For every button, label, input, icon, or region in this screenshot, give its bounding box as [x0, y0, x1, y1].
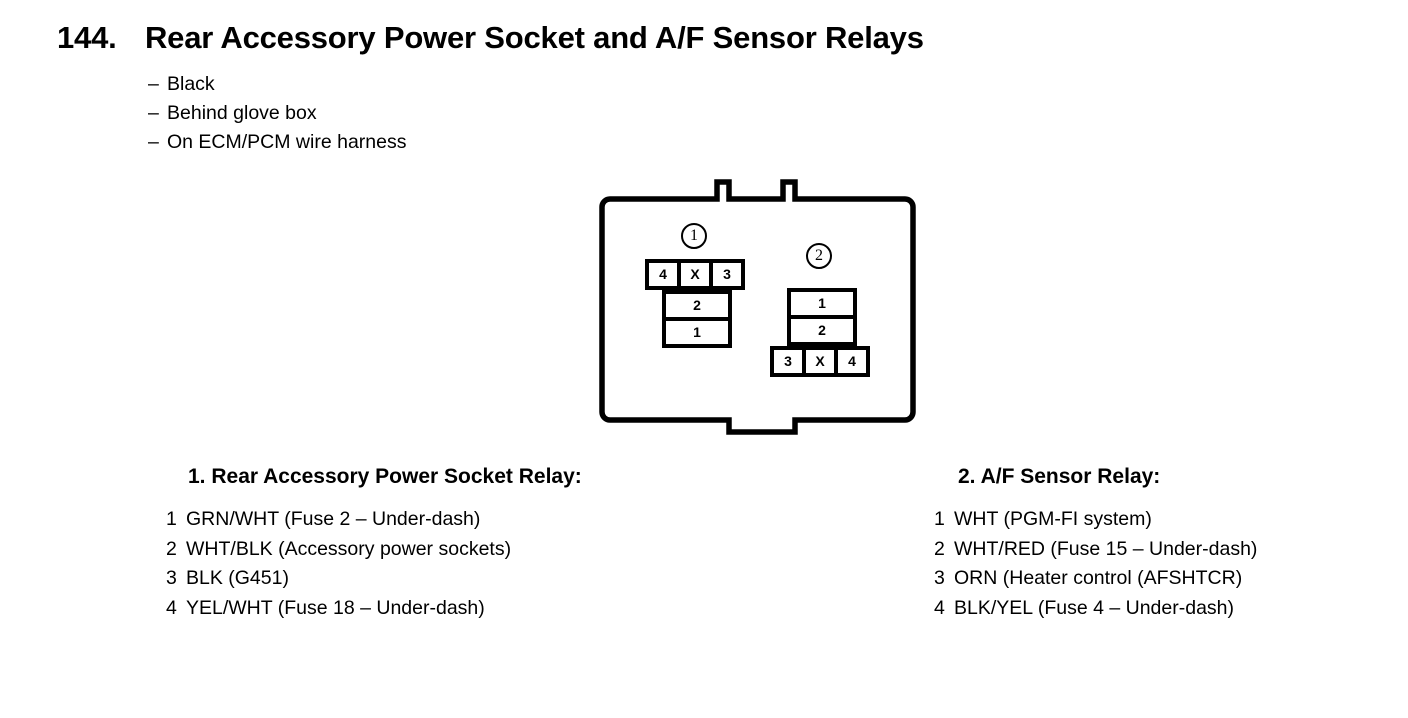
- legend-row: 4 YEL/WHT (Fuse 18 – Under-dash): [166, 594, 582, 624]
- legend-row: 3 ORN (Heater control (AFSHTCR): [934, 564, 1257, 594]
- relay1-top-pin-row: 4 X 3: [645, 259, 745, 290]
- pin-cell: 4: [838, 350, 866, 373]
- legend-af-sensor-relay: 2. A/F Sensor Relay: 1 WHT (PGM-FI syste…: [934, 465, 1257, 623]
- page-title-text: Rear Accessory Power Socket and A/F Sens…: [145, 20, 924, 55]
- legend-row: 4 BLK/YEL (Fuse 4 – Under-dash): [934, 594, 1257, 624]
- legend-pin-number: 4: [934, 594, 954, 624]
- callout-marker-2: 2: [806, 243, 832, 269]
- page-title: 144.Rear Accessory Power Socket and A/F …: [57, 20, 924, 56]
- pin-cell: 3: [713, 263, 741, 286]
- dash-bullet-icon: –: [148, 99, 167, 128]
- pin-stack: 1 2: [787, 288, 857, 346]
- pin-row: 3 X 4: [770, 346, 870, 377]
- relay1-lower-pin-stack: 2 1: [662, 290, 732, 348]
- note-label: On ECM/PCM wire harness: [167, 131, 406, 153]
- legend-pin-number: 2: [934, 535, 954, 565]
- legend-wire-label: WHT (PGM-FI system): [954, 505, 1152, 535]
- note-item: –Black: [148, 70, 406, 99]
- legend-row: 2 WHT/RED (Fuse 15 – Under-dash): [934, 535, 1257, 565]
- pin-cell: 2: [791, 319, 853, 342]
- callout-marker-1: 1: [681, 223, 707, 249]
- pin-cell: 3: [774, 350, 802, 373]
- pin-cell-blank: X: [806, 350, 834, 373]
- pin-cell: 2: [666, 294, 728, 317]
- legend-wire-label: GRN/WHT (Fuse 2 – Under-dash): [186, 505, 480, 535]
- legend-wire-label: WHT/RED (Fuse 15 – Under-dash): [954, 535, 1257, 565]
- legend-row: 2 WHT/BLK (Accessory power sockets): [166, 535, 582, 565]
- legend-row: 1 WHT (PGM-FI system): [934, 505, 1257, 535]
- pin-cell: 1: [791, 292, 853, 315]
- note-item: –On ECM/PCM wire harness: [148, 128, 406, 157]
- legend-rear-accessory-power-socket-relay: 1. Rear Accessory Power Socket Relay: 1 …: [166, 465, 582, 623]
- dash-bullet-icon: –: [148, 70, 167, 99]
- legend-pin-number: 1: [166, 505, 186, 535]
- note-label: Black: [167, 73, 215, 95]
- legend-row: 1 GRN/WHT (Fuse 2 – Under-dash): [166, 505, 582, 535]
- page-title-number: 144.: [57, 20, 145, 56]
- pin-stack: 2 1: [662, 290, 732, 348]
- legend-title: 2. A/F Sensor Relay:: [958, 465, 1257, 489]
- relay2-bottom-pin-row: 3 X 4: [770, 346, 870, 377]
- legend-wire-label: WHT/BLK (Accessory power sockets): [186, 535, 511, 565]
- pin-cell: 4: [649, 263, 677, 286]
- legend-wire-label: YEL/WHT (Fuse 18 – Under-dash): [186, 594, 485, 624]
- legend-row: 3 BLK (G451): [166, 564, 582, 594]
- legend-wire-label: ORN (Heater control (AFSHTCR): [954, 564, 1242, 594]
- note-label: Behind glove box: [167, 102, 317, 124]
- connector-outline-icon: [598, 176, 918, 438]
- legend-pin-number: 3: [934, 564, 954, 594]
- legend-pin-number: 1: [934, 505, 954, 535]
- legend-pin-number: 3: [166, 564, 186, 594]
- pin-cell-blank: X: [681, 263, 709, 286]
- connector-notes-list: –Black –Behind glove box –On ECM/PCM wir…: [148, 70, 406, 157]
- note-item: –Behind glove box: [148, 99, 406, 128]
- legend-wire-label: BLK/YEL (Fuse 4 – Under-dash): [954, 594, 1234, 624]
- legend-title: 1. Rear Accessory Power Socket Relay:: [188, 465, 582, 489]
- dash-bullet-icon: –: [148, 128, 167, 157]
- relay2-upper-pin-stack: 1 2: [787, 288, 857, 346]
- connector-diagram: [598, 176, 918, 438]
- legend-wire-label: BLK (G451): [186, 564, 289, 594]
- pin-cell: 1: [666, 321, 728, 344]
- pin-row: 4 X 3: [645, 259, 745, 290]
- legend-pin-number: 4: [166, 594, 186, 624]
- legend-pin-number: 2: [166, 535, 186, 565]
